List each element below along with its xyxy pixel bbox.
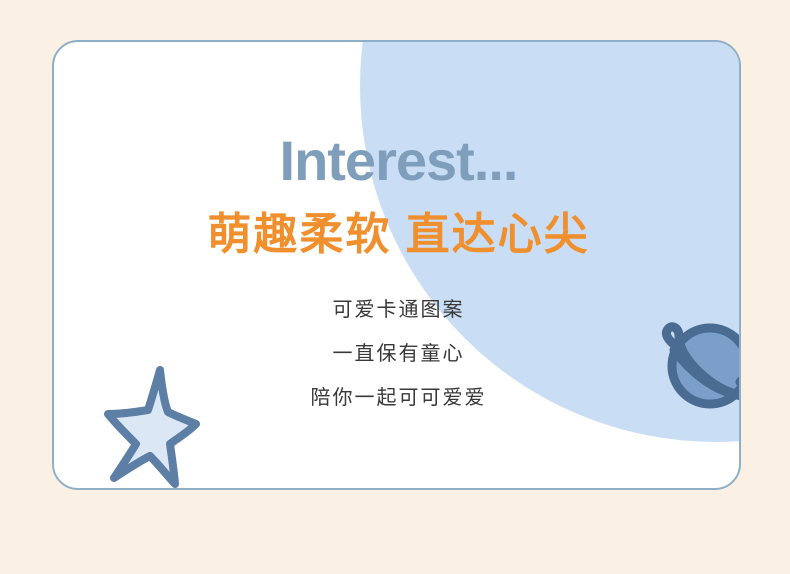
- planet-icon: [654, 314, 741, 414]
- promo-card: Interest... 萌趣柔软 直达心尖 可爱卡通图案 一直保有童心 陪你一起…: [52, 40, 741, 490]
- body-line-2: 一直保有童心: [54, 344, 741, 364]
- page-title-english: Interest...: [54, 130, 741, 192]
- body-line-1: 可爱卡通图案: [54, 300, 741, 320]
- page-title-chinese: 萌趣柔软 直达心尖: [54, 209, 741, 262]
- page-root: Interest... 萌趣柔软 直达心尖 可爱卡通图案 一直保有童心 陪你一起…: [0, 0, 790, 574]
- star-icon: [102, 362, 202, 490]
